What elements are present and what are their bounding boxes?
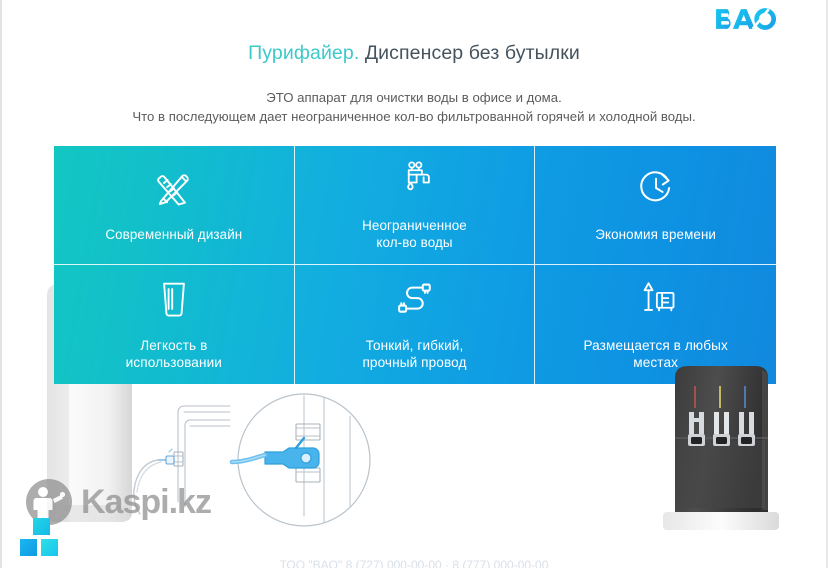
product-infographic-page: Пурифайер. Диспенсер без бутылки ЭТО апп… bbox=[0, 0, 828, 568]
cable-wire-icon bbox=[392, 275, 436, 323]
page-subtitle: ЭТО аппарат для очистки воды в офисе и д… bbox=[0, 88, 828, 126]
faucet-drop-icon bbox=[393, 155, 435, 203]
page-title-accent: Пурифайер. bbox=[248, 42, 359, 64]
bao-logo bbox=[714, 6, 776, 32]
subtitle-line-1: ЭТО аппарат для очистки воды в офисе и д… bbox=[0, 88, 828, 107]
water-glass-icon bbox=[156, 275, 192, 323]
kaspi-watermark-text: Kaspi.kz bbox=[81, 485, 211, 519]
feature-cell-unlimited-water: Неограниченное кол-во воды bbox=[295, 146, 536, 265]
counter-dispenser-image bbox=[655, 362, 785, 540]
subtitle-line-2: Что в последующем дает неограниченное ко… bbox=[0, 107, 828, 126]
decor-square-1 bbox=[33, 518, 50, 535]
clock-refresh-icon bbox=[635, 164, 677, 212]
feature-label: Тонкий, гибкий, прочный провод bbox=[362, 337, 466, 371]
decor-square-2 bbox=[20, 539, 37, 556]
page-title-main: Диспенсер без бутылки bbox=[359, 42, 579, 64]
footer-clipped-text: ТОО "BAO" 8 (727) 000-00-00 · 8 (777) 00… bbox=[0, 559, 828, 568]
ruler-pencil-icon bbox=[152, 164, 196, 212]
feature-label: Современный дизайн bbox=[105, 226, 242, 243]
feature-label: Экономия времени bbox=[595, 226, 716, 243]
feature-cell-ease-of-use: Легкость в использовании bbox=[54, 265, 295, 384]
feature-grid: Современный дизайн Неограниченное кол-во… bbox=[54, 146, 776, 384]
corner-decor-squares bbox=[20, 518, 66, 560]
page-left-border bbox=[0, 0, 2, 568]
feature-cell-time-saving: Экономия времени bbox=[535, 146, 776, 265]
feature-cell-modern-design: Современный дизайн bbox=[54, 146, 295, 265]
feature-label: Неограниченное кол-во воды bbox=[362, 217, 467, 251]
page-title: Пурифайер. Диспенсер без бутылки bbox=[0, 42, 828, 65]
feature-cell-cable: Тонкий, гибкий, прочный провод bbox=[295, 265, 536, 384]
feature-label: Легкость в использовании bbox=[126, 337, 222, 371]
lamp-cabinet-icon bbox=[633, 275, 679, 323]
decor-square-3 bbox=[41, 539, 58, 556]
